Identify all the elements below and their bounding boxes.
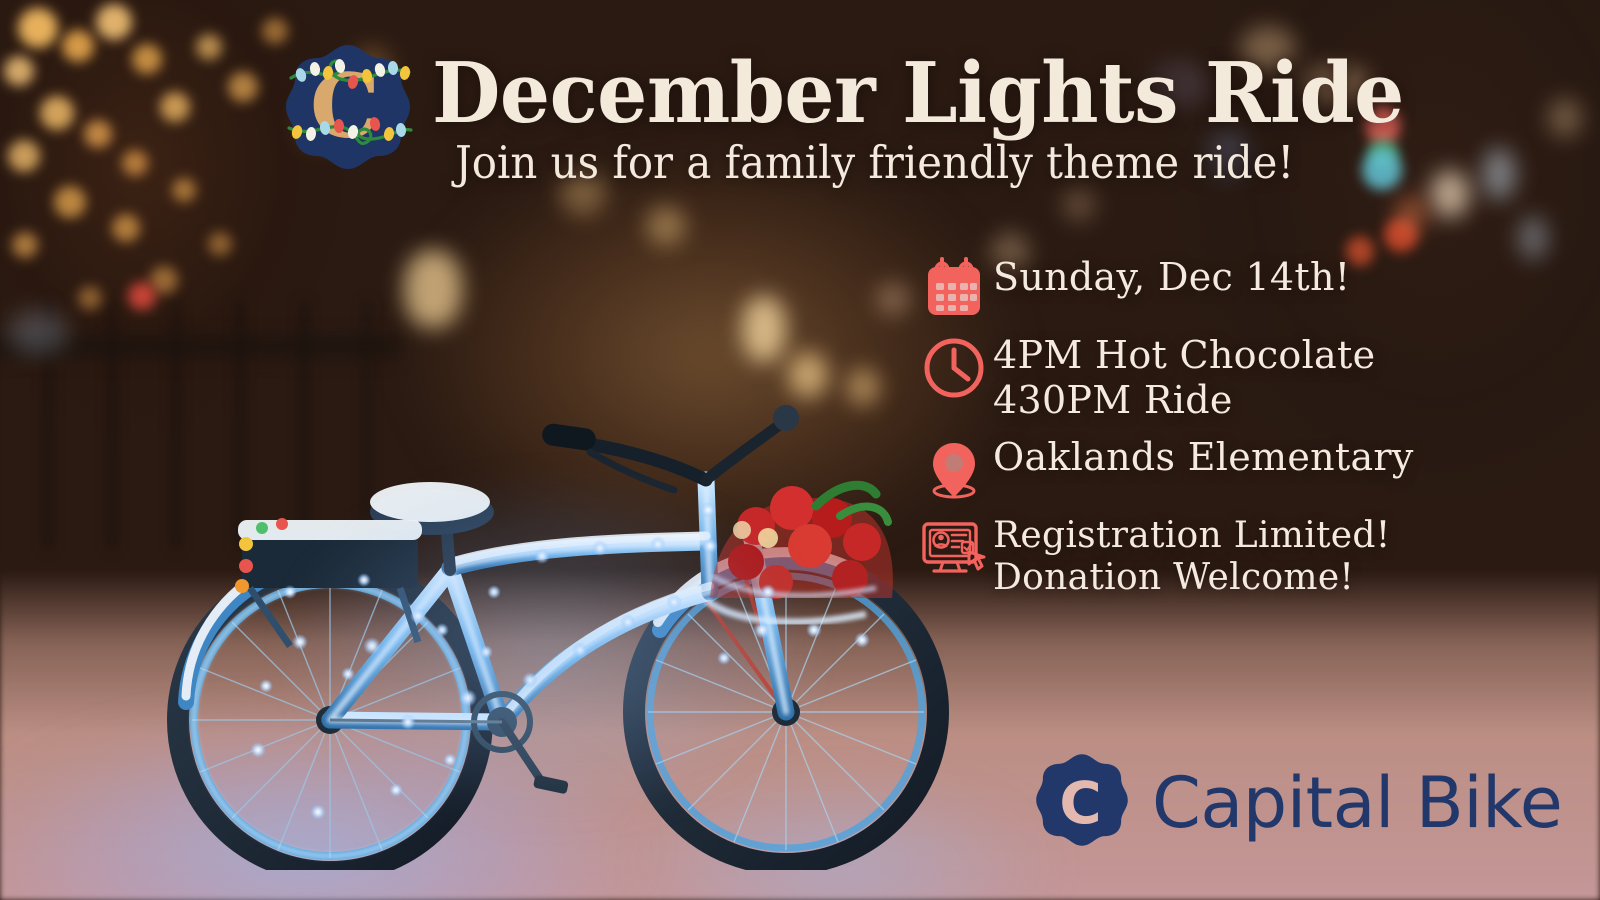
registration-line-2: Donation Welcome! [993,557,1391,599]
time-line-1: 4PM Hot Chocolate [993,333,1375,378]
page-subtitle: Join us for a family friendly theme ride… [455,140,1273,185]
date-line-1: Sunday, Dec 14th! [993,255,1350,300]
detail-row-location: Oaklands Elementary [915,435,1535,501]
detail-text-registration: Registration Limited! Donation Welcome! [993,515,1391,600]
brand-mark-letter: C [1059,770,1101,837]
detail-text-location: Oaklands Elementary [993,435,1414,480]
detail-row-registration: Registration Limited! Donation Welcome! [915,515,1535,600]
time-line-2: 430PM Ride [993,378,1375,423]
page-title: December Lights Ride [432,52,1268,135]
location-pin-icon [915,435,993,501]
online-registration-icon [915,515,993,583]
capital-bike-holiday-logo: C [283,42,413,172]
detail-text-date: Sunday, Dec 14th! [993,255,1350,300]
registration-line-1: Registration Limited! [993,515,1391,557]
event-details-list: Sunday, Dec 14th! 4PM Hot Chocolate 430P… [915,255,1535,612]
poster-header: C [0,0,1600,200]
detail-row-date: Sunday, Dec 14th! [915,255,1535,319]
brand-name: Capital Bike [1152,768,1562,838]
brand-lockup: C Capital Bike [1034,752,1562,853]
clock-icon [915,333,993,399]
location-line-1: Oaklands Elementary [993,435,1414,480]
bicycle-illustration [150,330,960,870]
detail-text-time: 4PM Hot Chocolate 430PM Ride [993,333,1375,423]
calendar-icon [915,255,993,319]
poster-canvas: C [0,0,1600,900]
detail-row-time: 4PM Hot Chocolate 430PM Ride [915,333,1535,423]
logo-letter: C [310,54,380,158]
capital-bike-mark: C [1034,752,1130,853]
bicycle-led-glow [190,390,910,860]
